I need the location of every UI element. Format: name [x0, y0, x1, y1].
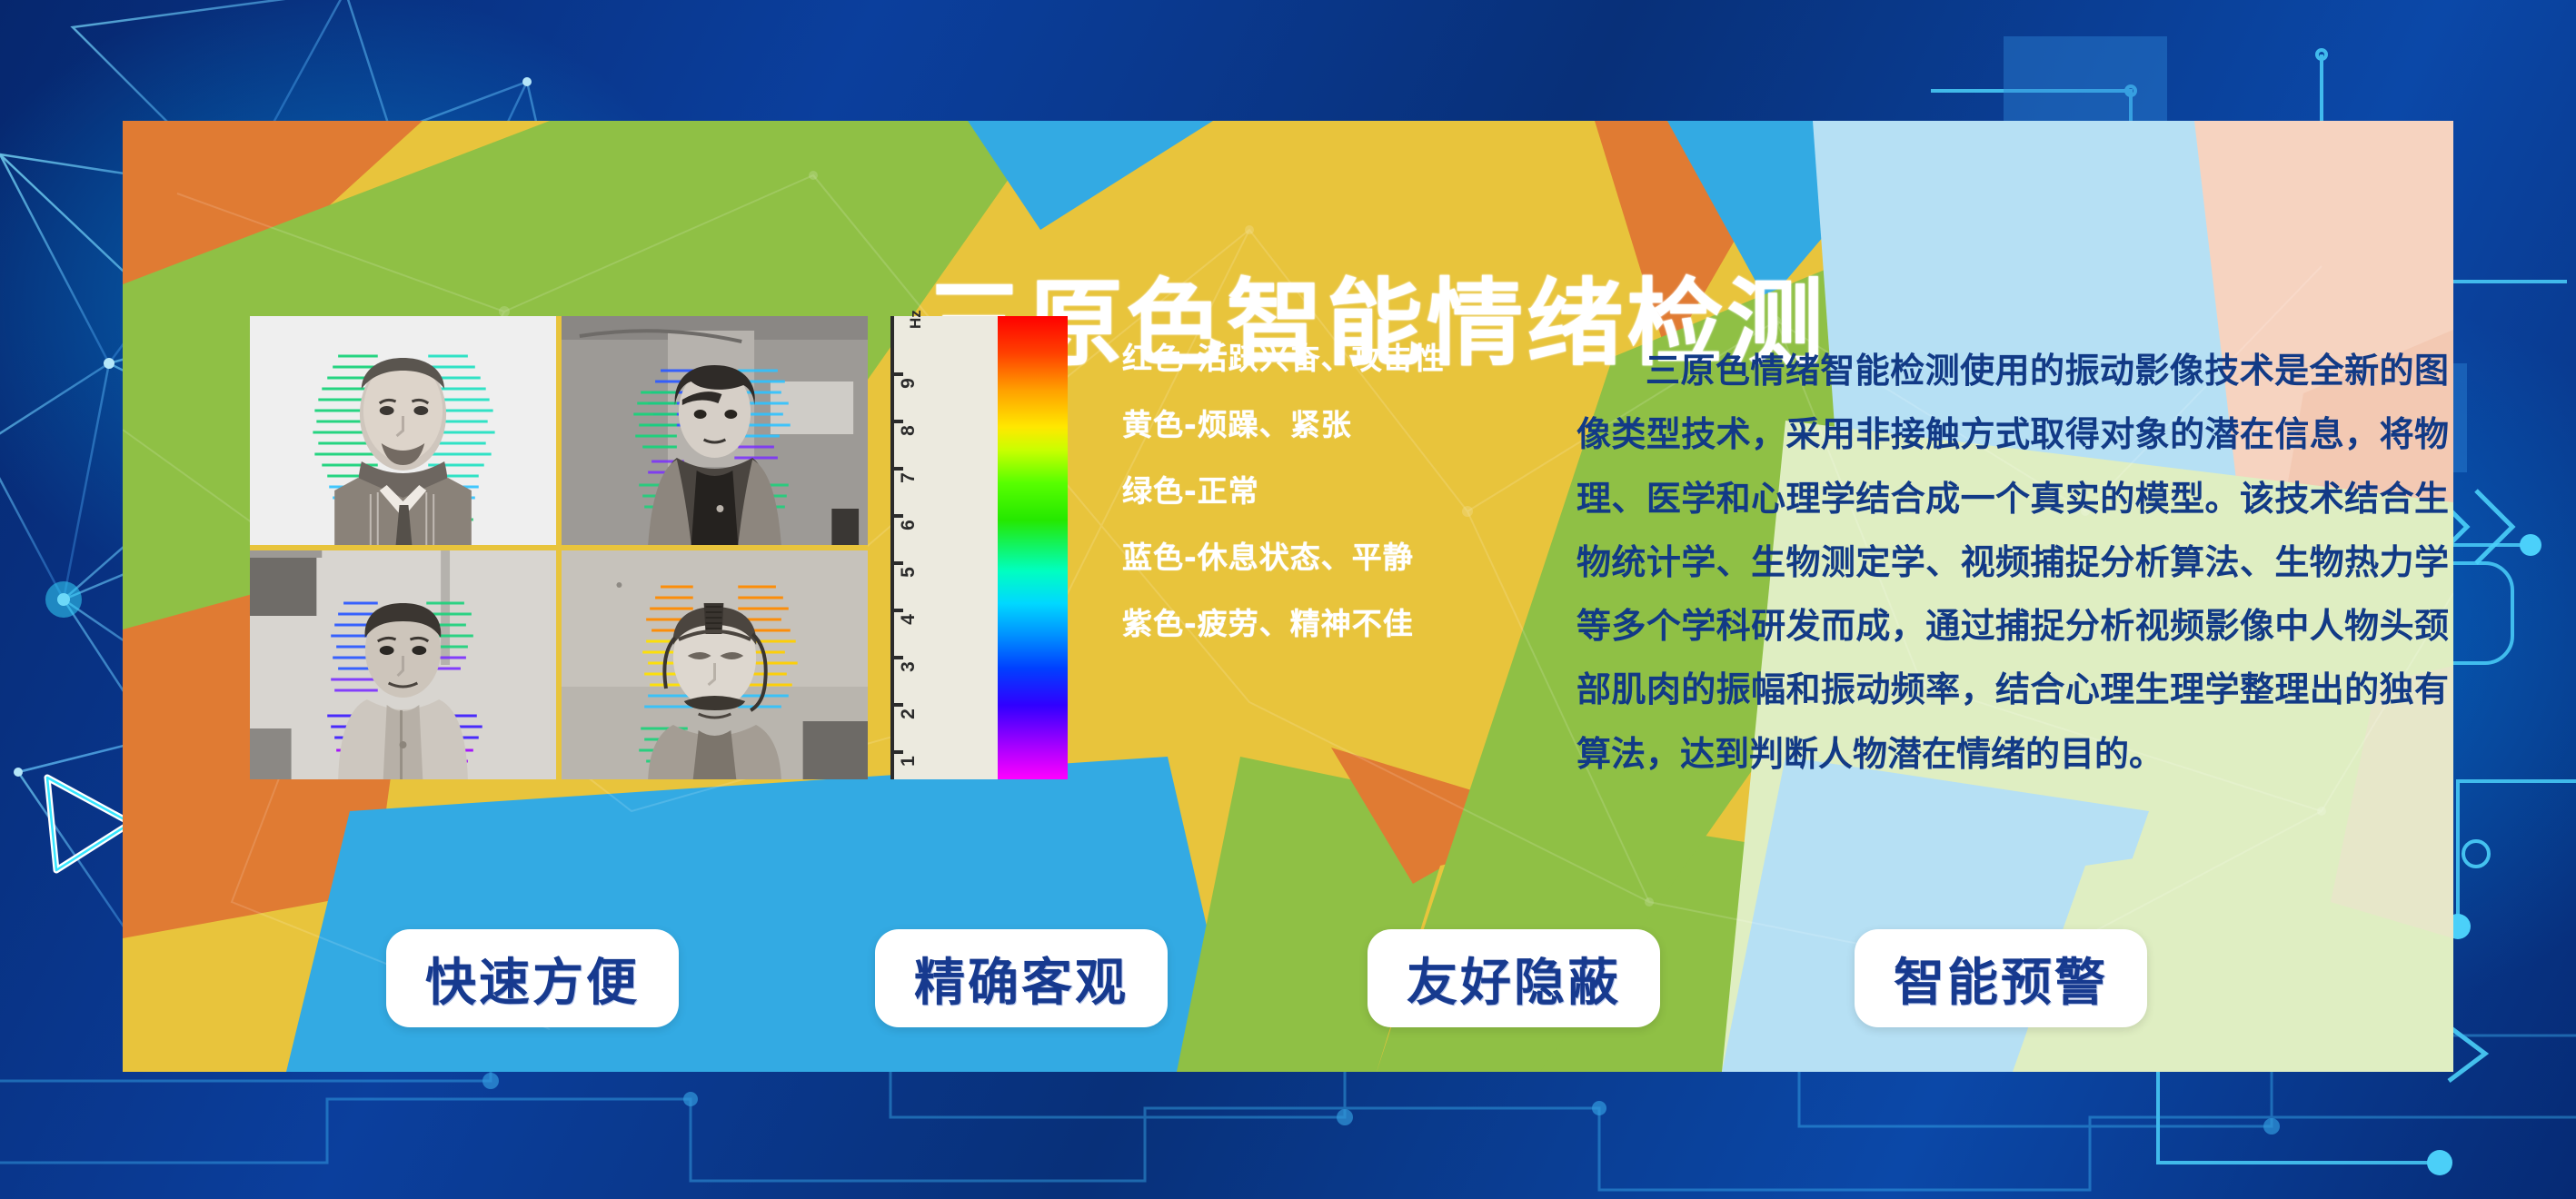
photo-subject-1 — [250, 316, 556, 545]
photo-subject-3 — [250, 550, 556, 779]
frequency-tick-label: 1 — [898, 756, 920, 767]
poster-stage: 三原色智能情绪检测 — [0, 0, 2576, 1199]
frequency-tick-label: 6 — [898, 520, 920, 530]
frequency-scale: Hz 987654321 — [890, 316, 1068, 779]
frequency-tick-mark — [890, 467, 903, 471]
legend-item-green: 绿色-正常 — [1122, 476, 1549, 506]
frequency-tick-label: 7 — [898, 472, 920, 483]
feature-pill-row: 快速方便 精确客观 友好隐蔽 智能预警 — [123, 929, 2453, 1047]
feature-pill-accurate[interactable]: 精确客观 — [875, 929, 1168, 1027]
frequency-tick-mark — [890, 561, 903, 565]
frequency-tick-label: 8 — [898, 425, 920, 436]
frequency-tick-mark — [890, 750, 903, 754]
feature-pill-label: 快速方便 — [425, 942, 640, 1016]
frequency-tick-mark — [890, 372, 903, 376]
feature-pill-label: 智能预警 — [1894, 942, 2108, 1016]
frequency-tick-mark — [890, 609, 903, 612]
photo-subject-2 — [562, 316, 868, 545]
feature-pill-discreet[interactable]: 友好隐蔽 — [1368, 929, 1660, 1027]
description-paragraph: 三原色情绪智能检测使用的振动影像技术是全新的图像类型技术，采用非接触方式取得对象… — [1576, 339, 2449, 786]
frequency-tick-label: 2 — [898, 708, 920, 719]
spectrum-color-bar — [998, 316, 1068, 779]
frequency-unit-label: Hz — [907, 310, 925, 329]
feature-pill-alert[interactable]: 智能预警 — [1855, 929, 2147, 1027]
frequency-tick-label: 3 — [898, 661, 920, 672]
frequency-tick-mark — [890, 703, 903, 707]
legend-item-blue: 蓝色-休息状态、平静 — [1122, 542, 1549, 572]
legend-item-purple: 紫色-疲劳、精神不佳 — [1122, 609, 1549, 639]
feature-pill-label: 友好隐蔽 — [1407, 942, 1621, 1016]
color-legend: 红色-活跃兴奋、攻击性 黄色-烦躁、紧张 绿色-正常 蓝色-休息状态、平静 紫色… — [1122, 343, 1549, 675]
content-panel: 三原色智能情绪检测 — [123, 121, 2453, 1072]
frequency-tick-label: 5 — [898, 567, 920, 578]
photo-subject-4 — [562, 550, 868, 779]
frequency-tick-mark — [890, 420, 903, 423]
feature-pill-fast[interactable]: 快速方便 — [386, 929, 679, 1027]
frequency-tick-mark — [890, 514, 903, 518]
feature-pill-label: 精确客观 — [914, 942, 1129, 1016]
frequency-tick-label: 4 — [898, 614, 920, 625]
legend-item-yellow: 黄色-烦躁、紧张 — [1122, 410, 1549, 440]
frequency-tick-mark — [890, 656, 903, 659]
frequency-tick-label: 9 — [898, 378, 920, 389]
frequency-axis: Hz 987654321 — [890, 316, 998, 779]
legend-item-red: 红色-活跃兴奋、攻击性 — [1122, 343, 1549, 373]
vibraimage-photo-grid — [250, 316, 868, 779]
